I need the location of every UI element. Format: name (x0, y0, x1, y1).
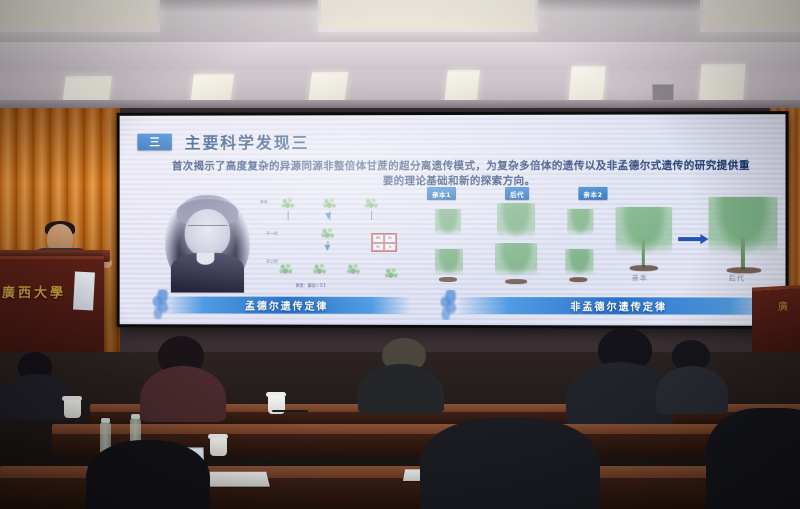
pea-cross-arrow (325, 213, 331, 219)
projection-screen: 三 主要科学发现三 首次揭示了高度复杂的异源同源非整倍体甘蔗的超分离遗传模式，为… (117, 111, 789, 329)
pea-plant (345, 261, 362, 278)
portrait-glasses (188, 225, 228, 233)
lecture-hall-photo: 三 主要科学发现三 首次揭示了高度复杂的异源同源非整倍体甘蔗的超分离遗传模式，为… (0, 0, 800, 509)
foreground-person (420, 418, 600, 509)
punnett-cell: RR (372, 234, 384, 242)
caption-parent: 亲本 (632, 273, 648, 283)
podium-right-label: 廣 (778, 298, 788, 313)
ceiling (0, 0, 800, 112)
cross-population-panel: 亲本1 后代 亲本2 (427, 193, 608, 293)
pea-plant (321, 195, 338, 212)
ceiling-soffit (0, 42, 800, 70)
grass-plant (435, 209, 461, 239)
mendel-portrait (165, 195, 250, 289)
foreground-person (86, 440, 210, 509)
pea-plant (280, 195, 297, 212)
pea-plant (311, 261, 328, 278)
grass-plant (435, 249, 463, 279)
sugarcane-panel: 亲本 后代 (616, 193, 778, 294)
grass-plant (497, 203, 535, 243)
pea-generation-label-f2: 子二代 (266, 259, 278, 265)
punnett-cell: Rr (384, 234, 396, 242)
slide-number-badge: 三 (137, 133, 172, 150)
slide-title: 主要科学发现三 (185, 129, 310, 153)
pea-stem (288, 211, 289, 220)
pea-stem (371, 211, 372, 220)
pea-genetics-diagram: 亲本 子一代 RR Rr Rr rr (260, 193, 415, 293)
pea-plant (363, 195, 380, 212)
audience-person (656, 366, 728, 414)
label-parent1: 亲本1 (427, 187, 456, 200)
foreground-person (706, 408, 800, 509)
plant-soil (630, 265, 658, 271)
tea-cup (210, 438, 227, 456)
plant-soil (439, 277, 457, 282)
pea-plant (383, 265, 400, 282)
caption-offspring: 后代 (729, 273, 745, 283)
slide-body-text: 首次揭示了高度复杂的异源同源非整倍体甘蔗的超分离遗传模式，为复杂多倍体的遗传以及… (171, 159, 751, 190)
label-parent2: 亲本2 (578, 187, 607, 200)
ribbon-mendel: 孟德尔遗传定律 (163, 296, 411, 313)
punnett-cell: Rr (372, 242, 384, 250)
plant-label-row: 亲本1 后代 亲本2 (427, 187, 608, 200)
audience-person (358, 364, 444, 414)
plant-soil (569, 277, 587, 282)
sugarcane-stalk (741, 237, 745, 269)
label-offspring: 后代 (505, 187, 529, 200)
audience-person (140, 366, 226, 422)
grass-plant (495, 243, 537, 281)
grass-plant (567, 209, 593, 239)
pea-cross-arrow (324, 245, 330, 251)
pea-generation-label-f1: 子一代 (266, 231, 278, 237)
tea-cup (64, 400, 81, 418)
portrait-collar (197, 253, 215, 265)
ceiling-light-large (0, 0, 160, 32)
slide-header: 三 主要科学发现三 (137, 129, 309, 153)
plant-soil (505, 279, 527, 284)
presentation-slide: 三 主要科学发现三 首次揭示了高度复杂的异源同源非整倍体甘蔗的超分离遗传模式，为… (120, 114, 786, 326)
podium-university-name: 廣西大學 (2, 282, 88, 301)
transition-arrow-body (678, 237, 700, 241)
pea-generation-label-p: 亲本 (260, 199, 268, 205)
grass-plant (565, 249, 593, 279)
sugarcane-stalk (642, 239, 645, 267)
pea-ratio-caption: 表型：基因＝3:1 (296, 283, 326, 289)
ribbon-non-mendel: 非孟德尔遗传定律 (457, 297, 781, 315)
pen (272, 410, 308, 412)
mendel-panel: 亲本 子一代 RR Rr Rr rr (157, 193, 417, 293)
punnett-square: RR Rr Rr rr (371, 233, 397, 252)
transition-arrow-head (700, 234, 708, 244)
ceiling-light-large (700, 0, 800, 32)
punnett-cell: rr (384, 242, 396, 250)
pea-plant (319, 225, 336, 242)
ceiling-light-large (318, 0, 538, 32)
pea-plant (278, 261, 295, 278)
